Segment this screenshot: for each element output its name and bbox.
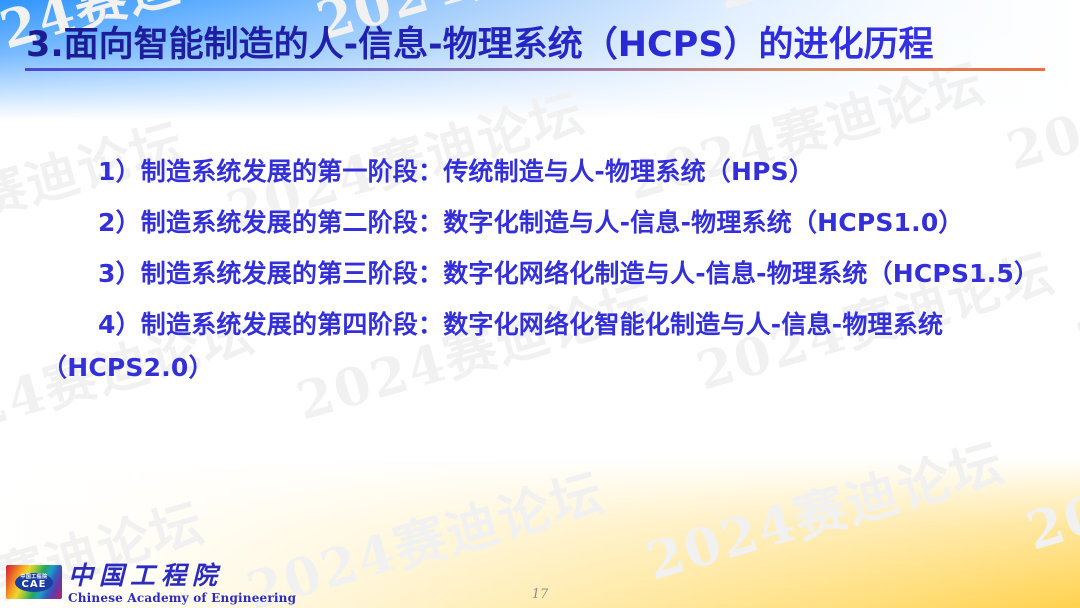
watermark-text: 2024赛迪论坛 — [1067, 201, 1080, 375]
content-list: 1）制造系统发展的第一阶段：传统制造与人-物理系统（HPS） 2）制造系统发展的… — [42, 150, 1042, 397]
page-title: 3.面向智能制造的人-信息-物理系统（HCPS）的进化历程 — [0, 22, 1080, 68]
list-item: 4）制造系统发展的第四阶段：数字化网络化智能化制造与人-信息-物理系统（HCPS… — [42, 303, 1042, 389]
page-number: 17 — [0, 587, 1080, 602]
watermark-text: 2024赛迪论坛 — [637, 421, 1012, 595]
title-underline-rule — [25, 68, 1045, 71]
watermark-text: 2024赛迪论坛 — [707, 0, 1080, 24]
list-item: 3）制造系统发展的第三阶段：数字化网络化制造与人-信息-物理系统（HCPS1.5… — [42, 252, 1042, 295]
list-item: 1）制造系统发展的第一阶段：传统制造与人-物理系统（HPS） — [42, 150, 1042, 193]
slide-canvas: 2024赛迪论坛 2024赛迪论坛 2024赛迪论坛 2024赛迪论坛 2024… — [0, 0, 1080, 608]
logo-chinese-name: 中国工程院 — [68, 563, 296, 588]
title-block: 3.面向智能制造的人-信息-物理系统（HCPS）的进化历程 — [0, 22, 1080, 68]
watermark-text: 2024赛迪论坛 — [1017, 391, 1080, 565]
list-item: 2）制造系统发展的第二阶段：数字化制造与人-信息-物理系统（HCPS1.0） — [42, 201, 1042, 244]
